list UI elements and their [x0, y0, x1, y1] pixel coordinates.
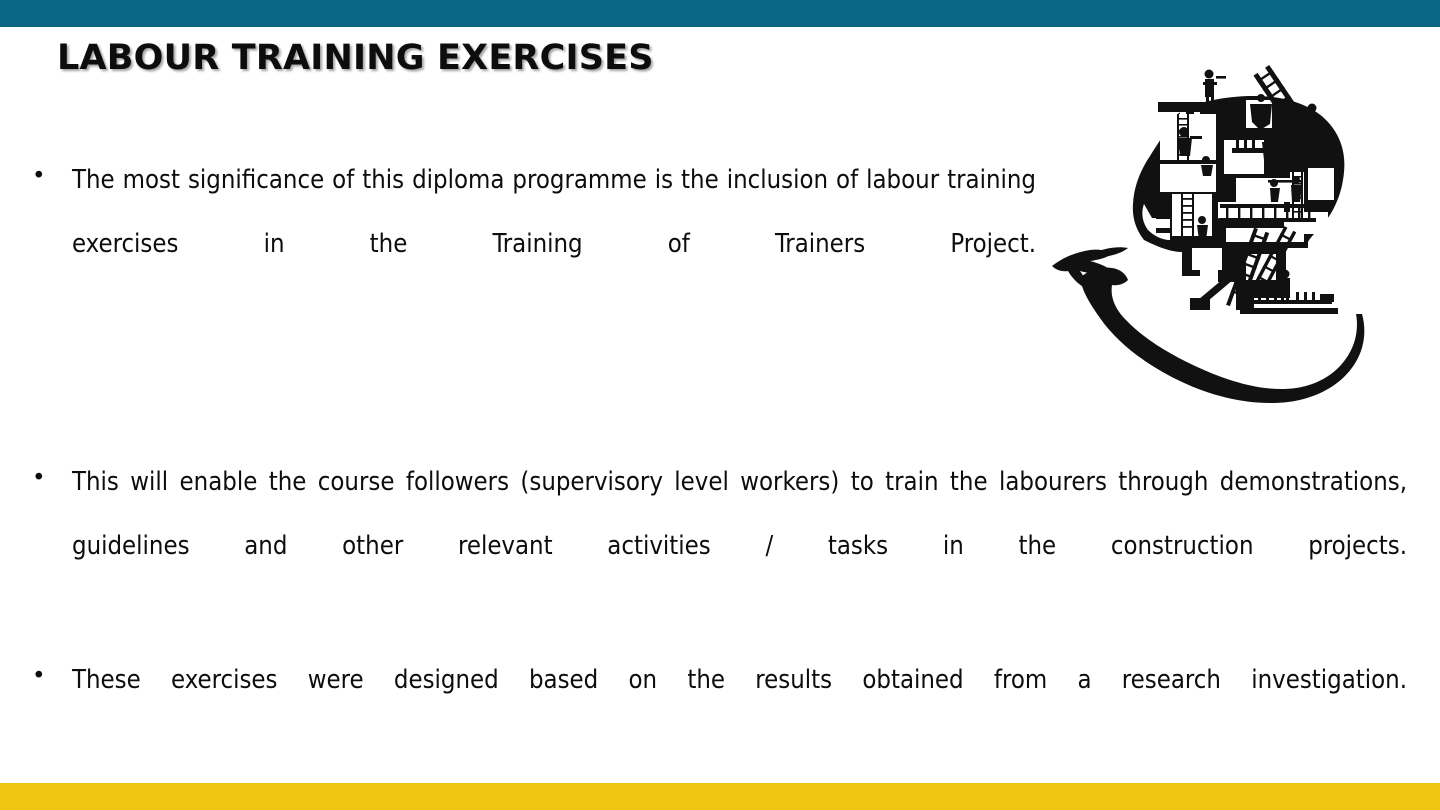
bullet-point-icon: •: [24, 648, 72, 705]
bullet-item: • The most significance of this diploma …: [24, 148, 1416, 340]
bullet-point-icon: •: [24, 450, 72, 507]
top-accent-band: [0, 0, 1440, 27]
body-spacer: [24, 340, 1416, 450]
bullet-item: • This will enable the course followers …: [24, 450, 1416, 642]
bullet-text: This will enable the course followers (s…: [72, 450, 1407, 642]
slide-body: • The most significance of this diploma …: [24, 148, 1416, 776]
bullet-text: These exercises were designed based on t…: [72, 648, 1407, 776]
bullet-text: The most significance of this diploma pr…: [72, 148, 1036, 340]
bullet-item: • These exercises were designed based on…: [24, 648, 1416, 776]
presentation-slide: LABOUR TRAINING EXERCISES: [0, 0, 1440, 810]
bottom-accent-band: [0, 783, 1440, 810]
page-title: LABOUR TRAINING EXERCISES: [57, 38, 654, 78]
bullet-point-icon: •: [24, 148, 72, 205]
